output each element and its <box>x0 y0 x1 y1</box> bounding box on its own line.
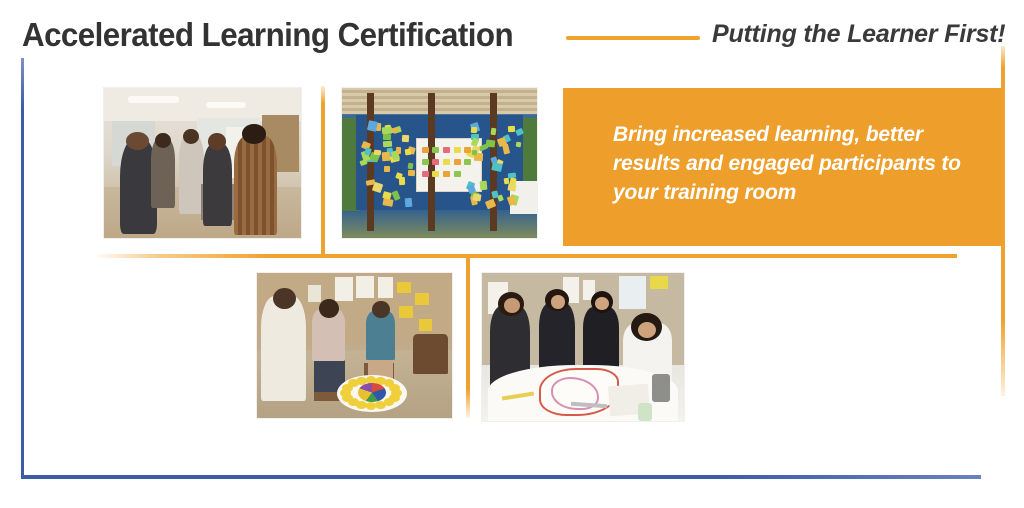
sticky-note <box>464 147 471 154</box>
sticky-note <box>401 135 408 142</box>
person-face <box>551 295 565 308</box>
person-head <box>183 129 199 144</box>
person-head <box>319 299 339 318</box>
person-figure <box>151 139 175 208</box>
sticky-note <box>408 170 415 177</box>
photo-2-scene <box>342 88 537 238</box>
sticky-note <box>443 159 450 166</box>
sticky-note <box>504 178 510 184</box>
person-figure-plaid-shirt <box>234 136 277 235</box>
wall-paper-sheet <box>308 285 322 302</box>
sticky-note <box>464 159 471 166</box>
sticky-note <box>491 191 498 199</box>
yellow-chart-card <box>419 319 433 331</box>
sticky-note <box>508 126 515 132</box>
yellow-chart-card <box>399 306 413 318</box>
yellow-chart-card <box>415 293 429 305</box>
person-figure <box>261 296 306 400</box>
person-head <box>372 301 390 318</box>
water-bottle <box>638 403 652 421</box>
sticky-note <box>404 198 412 208</box>
sticky-note <box>443 171 450 178</box>
photo-4-scene <box>482 273 684 421</box>
wall-paper-sheet <box>378 277 394 297</box>
person-head <box>126 132 150 150</box>
tumbler <box>652 374 670 402</box>
sticky-note <box>491 162 502 172</box>
mandala-petal <box>389 384 400 392</box>
sticky-note <box>443 147 450 154</box>
slide-canvas: Accelerated Learning Certification Putti… <box>0 0 1024 508</box>
mandala-petal <box>366 402 377 410</box>
divider-vertical-lower <box>466 258 470 418</box>
sticky-note <box>454 159 461 166</box>
frame-left-blue-line <box>21 58 24 478</box>
wall-document <box>619 276 645 309</box>
sticky-note <box>479 181 486 191</box>
person-head <box>155 133 171 148</box>
sticky-note <box>383 134 391 140</box>
sticky-note <box>383 141 392 147</box>
photo-circle-discussion <box>257 273 452 418</box>
sticky-note <box>471 149 477 155</box>
sticky-note <box>422 147 429 154</box>
wall-paper-sheet <box>335 277 353 300</box>
sticky-note <box>399 177 405 185</box>
tagline: Putting the Learner First! <box>712 20 1005 49</box>
sticky-note <box>422 159 429 166</box>
title-divider-rule <box>566 36 700 40</box>
divider-horizontal-middle <box>97 254 957 258</box>
photo-1-scene <box>104 88 301 238</box>
header: Accelerated Learning Certification Putti… <box>0 0 1024 62</box>
divider-vertical-upper <box>321 86 325 258</box>
sticky-note <box>396 147 402 154</box>
ceiling-light <box>128 96 179 104</box>
sticky-note <box>454 171 461 178</box>
yellow-wall-card <box>650 276 668 289</box>
chair <box>413 334 448 375</box>
sticky-note <box>454 147 461 154</box>
sticky-note <box>373 149 380 155</box>
photo-sticky-note-wall <box>342 88 537 238</box>
sticky-note <box>404 149 411 156</box>
sticky-note <box>432 147 439 154</box>
footer-partners: In collaboration with HumanCap THE CENTE… <box>0 425 1024 500</box>
photo-workshop-interaction <box>104 88 301 238</box>
ceiling-light <box>206 102 245 108</box>
mandala-marker-center <box>358 383 385 402</box>
sticky-note <box>382 151 390 161</box>
sticky-note <box>422 171 429 178</box>
sticky-note <box>384 166 390 172</box>
sticky-note <box>432 171 439 178</box>
photo-table-mapping <box>482 273 684 421</box>
sticky-note <box>432 159 439 166</box>
person-head <box>273 288 296 310</box>
person-head <box>242 124 266 144</box>
person-figure <box>203 144 233 227</box>
sticky-note <box>471 126 478 133</box>
wall-paper-sheet <box>356 276 374 298</box>
person-head <box>208 133 226 150</box>
mandala-petal <box>375 401 386 409</box>
person-figure <box>366 311 395 360</box>
page-title: Accelerated Learning Certification <box>22 16 513 54</box>
photo-3-scene <box>257 273 452 418</box>
yellow-chart-card <box>397 282 411 294</box>
person-face <box>638 322 656 338</box>
callout-text: Bring increased learning, better results… <box>613 120 973 207</box>
sticky-note <box>485 139 495 147</box>
